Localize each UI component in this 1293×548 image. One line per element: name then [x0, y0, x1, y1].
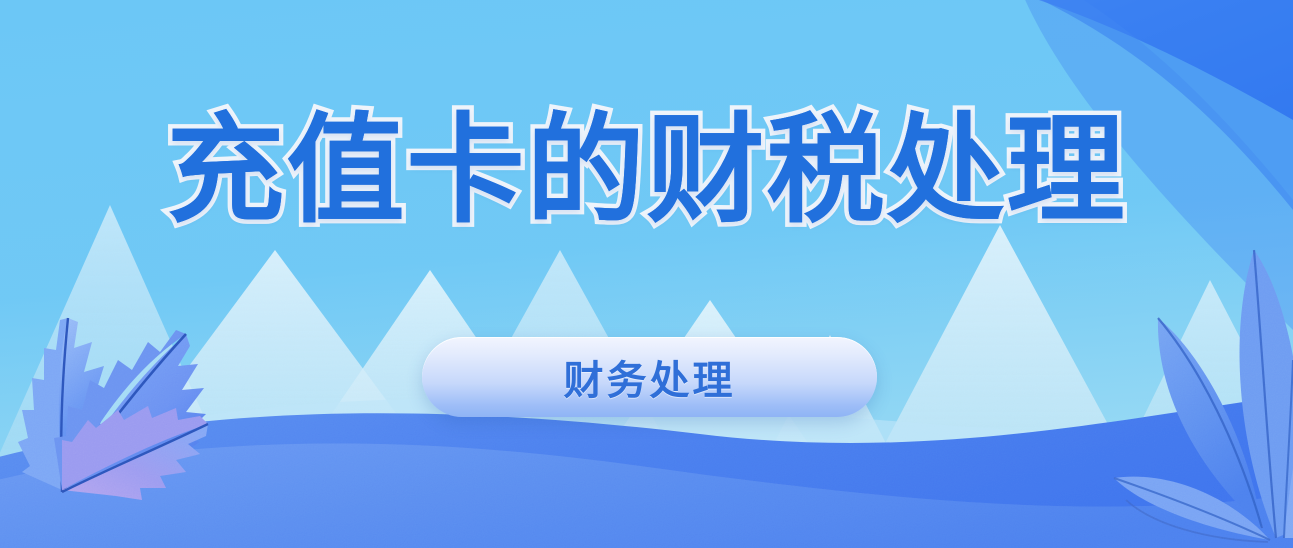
- banner-image: 充值卡的财税处理 充值卡的财税处理 财务处理: [0, 0, 1293, 548]
- banner-title: 充值卡的财税处理: [0, 112, 1293, 230]
- subtitle-pill: 财务处理: [422, 337, 877, 417]
- subtitle-pill-label: 财务处理: [564, 348, 736, 406]
- background-artwork: [0, 0, 1293, 548]
